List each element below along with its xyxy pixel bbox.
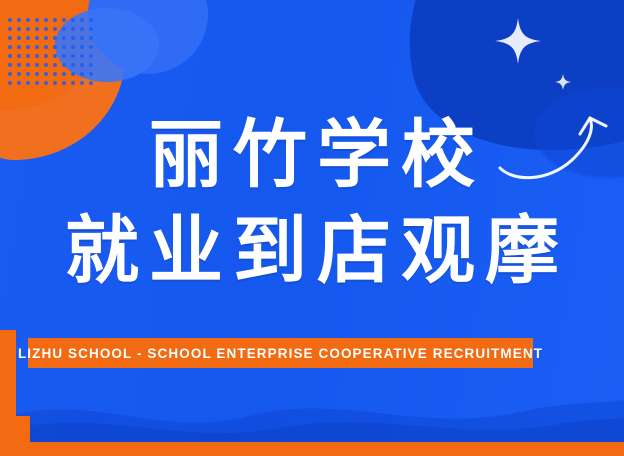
wave-decoration [0, 372, 624, 442]
subtitle-banner: LIZHU SCHOOL - SCHOOL ENTERPRISE COOPERA… [28, 338, 533, 368]
sparkle-icon [495, 18, 541, 64]
subtitle-text: LIZHU SCHOOL - SCHOOL ENTERPRISE COOPERA… [18, 346, 543, 361]
orange-strip-bottom [0, 442, 624, 456]
headline-line-2: 就业到店观摩 [0, 214, 624, 288]
poster-canvas: 丽竹学校 就业到店观摩 LIZHU SCHOOL - SCHOOL ENTERP… [0, 0, 624, 456]
headline-group: 丽竹学校 就业到店观摩 [0, 118, 624, 288]
sparkle-small-icon [555, 74, 571, 90]
dot-grid-icon [8, 18, 94, 90]
headline-line-1: 丽竹学校 [0, 118, 624, 192]
